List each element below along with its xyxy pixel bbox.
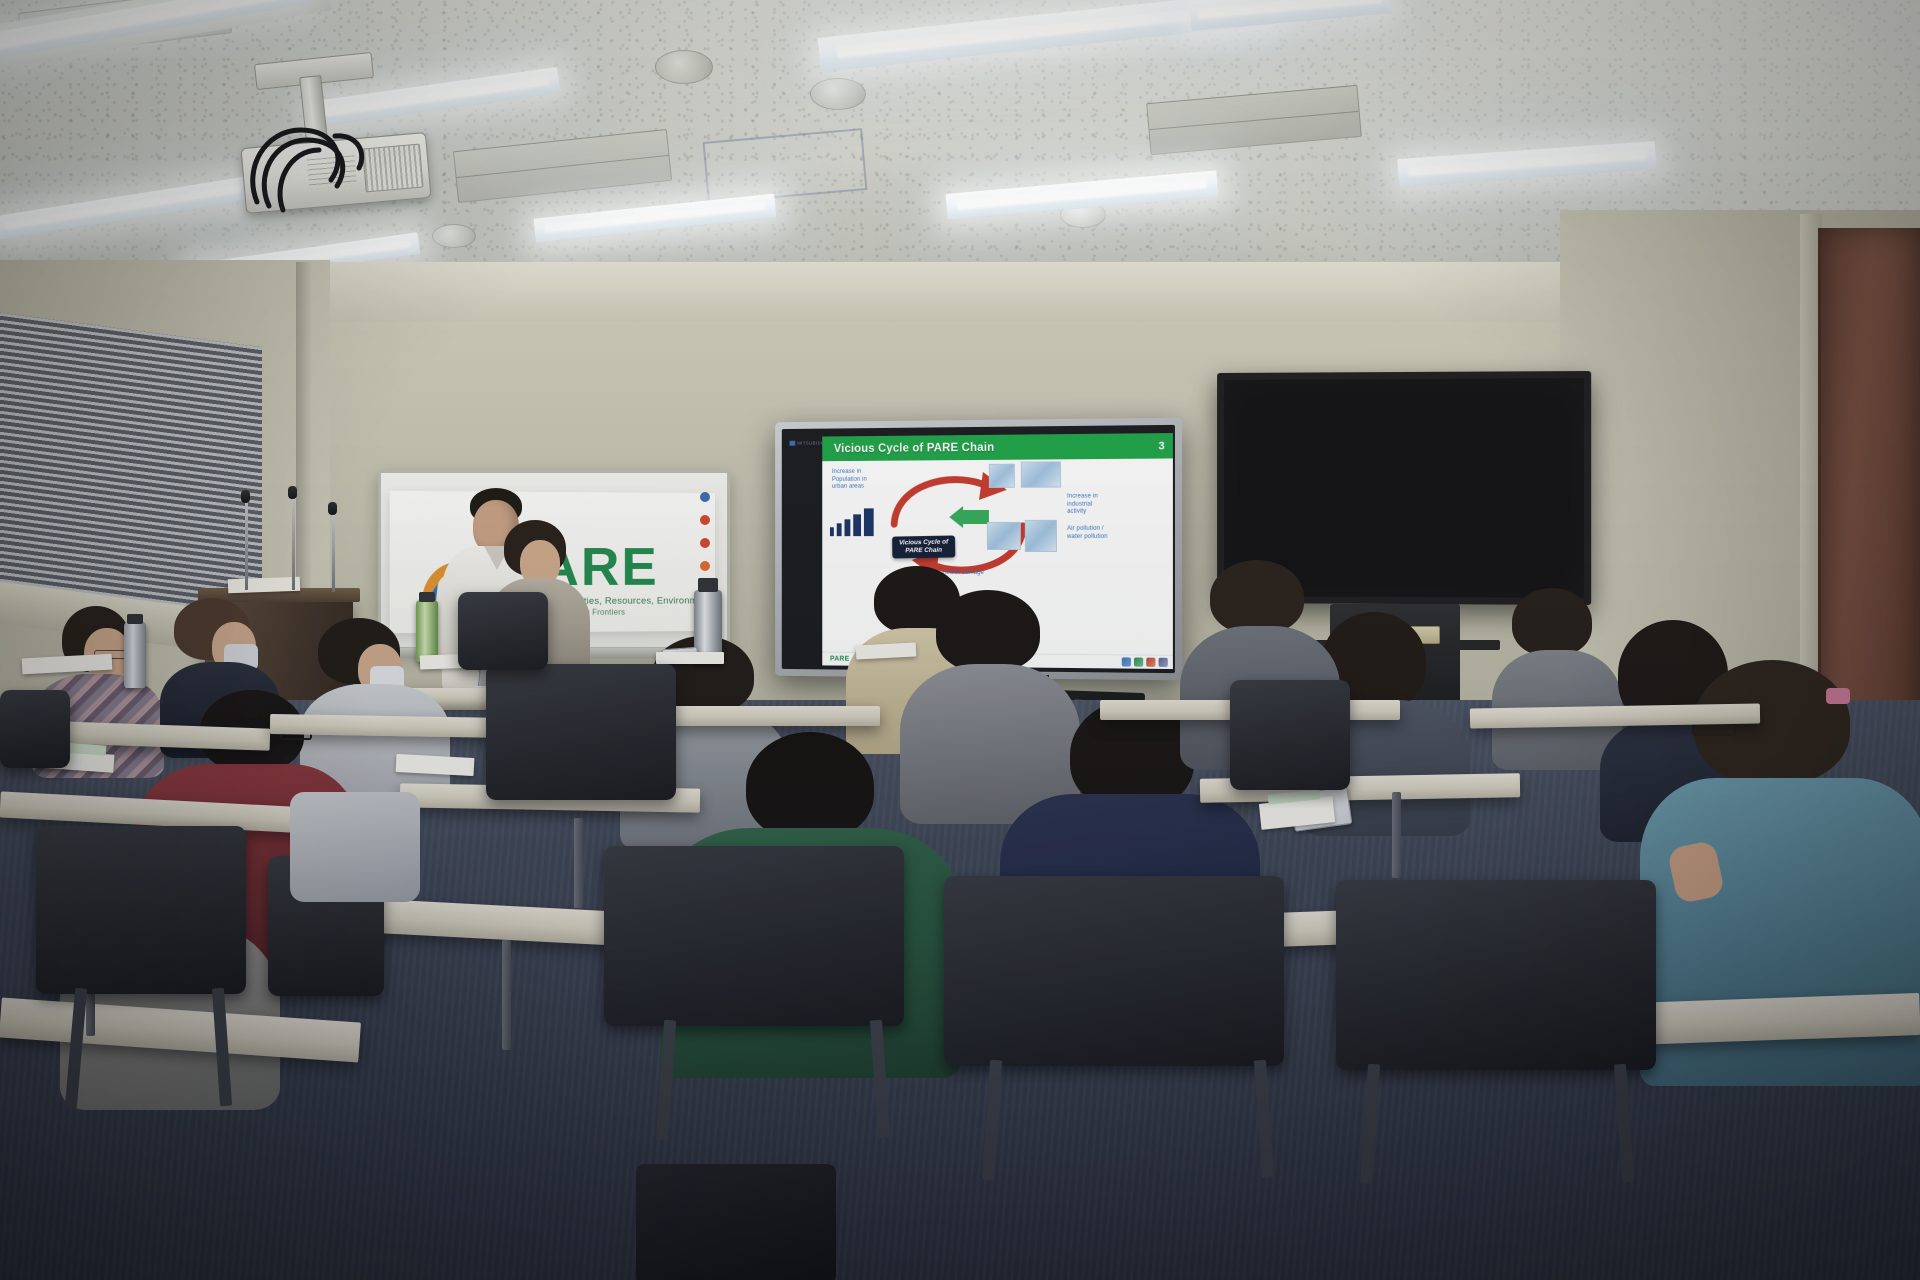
attendee-center-6-hair: [936, 590, 1040, 672]
slide-center-badge: Vicious Cycle of PARE Chain: [892, 535, 955, 558]
attendee-right-5-hair: [1210, 560, 1304, 634]
chair-6[interactable]: [1336, 880, 1656, 1070]
desk-leg-4: [1392, 792, 1401, 878]
projector-label: [307, 155, 357, 189]
magnet-red-2: [700, 538, 710, 548]
water-bottle-green-cap: [419, 592, 435, 602]
slide-photo-thumb-2: [1021, 461, 1061, 487]
mic-head-2: [288, 486, 297, 499]
attendee-center-5-hair: [746, 732, 874, 840]
chair-8[interactable]: [458, 592, 548, 670]
slide-header: Vicious Cycle of PARE Chain 3: [822, 433, 1173, 461]
pictogram-person: [853, 514, 861, 536]
mic-head-3: [328, 502, 337, 515]
whiteboard-magnets: [700, 492, 710, 584]
slide-caption-industry: Increase in industrial activity: [1067, 493, 1132, 516]
footer-logo-icon-1: [1122, 657, 1131, 666]
water-bottle-left[interactable]: [124, 622, 146, 688]
footer-logo-icon-4: [1159, 658, 1168, 667]
desk-leg-3: [502, 940, 511, 1050]
wall-soffit: [300, 262, 1620, 322]
pictogram-person: [830, 527, 834, 536]
desk-leg-2: [574, 818, 583, 908]
attendee-right-3-hairclip-icon: [1826, 688, 1850, 704]
chair-1[interactable]: [36, 826, 246, 994]
magnet-red-1: [700, 515, 710, 525]
chair-7[interactable]: [1230, 680, 1350, 790]
mic-stand-2: [292, 496, 295, 590]
slide-green-arrow: [947, 506, 991, 528]
slide-photo-thumb-1: [989, 464, 1015, 488]
slide-page-number: 3: [1158, 440, 1164, 452]
footer-logo-icon-3: [1146, 658, 1155, 667]
mic-head-1: [241, 490, 250, 503]
water-bottle-left-cap: [127, 614, 143, 624]
slide-photo-thumb-4: [1025, 520, 1057, 552]
slide-people-pictograms: [830, 508, 874, 536]
podium-papers: [228, 577, 300, 594]
footer-logo-icon-2: [1134, 657, 1143, 666]
handout-center[interactable]: [656, 652, 724, 664]
chair-9[interactable]: [0, 690, 70, 768]
seminar-room-photo: PARE Population, Activities, Resources, …: [0, 0, 1920, 1280]
magnet-blue: [700, 492, 710, 502]
mic-stand-1: [245, 500, 248, 590]
chair-4[interactable]: [604, 846, 904, 1026]
screen-brand-logo: MITSUBISHI: [789, 440, 825, 445]
ceiling-speaker-far: [432, 224, 476, 248]
mic-stand-3: [332, 512, 335, 592]
ceiling-speaker-left: [655, 50, 713, 84]
slide-title: Vicious Cycle of PARE Chain: [834, 441, 995, 454]
desk-row-1-mid: [270, 714, 510, 738]
magnet-orange: [700, 561, 710, 571]
slide-badge-line-2: PARE Chain: [899, 547, 948, 556]
slide-caption-pollution: Air pollution / water pollution: [1067, 526, 1132, 541]
chair-5[interactable]: [944, 876, 1284, 1066]
bag-on-chair[interactable]: [290, 792, 420, 902]
projector-vent-grille: [362, 144, 424, 193]
chair-3[interactable]: [486, 664, 676, 800]
slide-photo-thumb-3: [987, 522, 1021, 550]
attendee-right-1-hair: [1512, 588, 1592, 656]
water-bottle-green[interactable]: [416, 600, 438, 662]
pictogram-person: [845, 519, 851, 536]
backpack-floor[interactable]: [636, 1164, 836, 1280]
water-bottle-center-cap: [698, 578, 718, 592]
pictogram-person: [837, 523, 842, 536]
ceiling-speaker-mid: [810, 78, 866, 110]
